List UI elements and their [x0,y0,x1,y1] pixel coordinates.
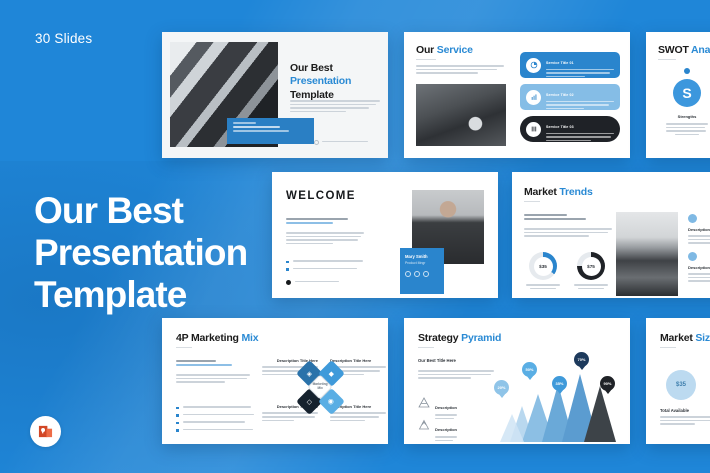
slide4-title: WELCOME [286,190,356,202]
mountain-icon [418,418,430,430]
person-name-card: Mary Smith Product Mngr [400,248,444,294]
slide4-body-text [286,232,364,246]
slide2-title-main: Our [416,44,434,56]
slide-thumbnail-4p-marketing[interactable]: 4P Marketing Mix Description Title Here … [162,318,388,444]
slide-thumbnail-swot[interactable]: SWOT Analysis S Strengths W Weaknesses [646,32,710,158]
slide2-title-accent: Service [437,44,473,56]
social-icons[interactable] [405,271,439,277]
pin-marker-2: 50% [522,362,537,381]
person-name: Mary Smith [405,254,439,259]
center-label: Marketing Mix [312,383,328,391]
donut-chart-2: $75 [574,252,608,289]
social-icon-1[interactable] [405,271,411,277]
slide2-title: Our Service [416,44,473,56]
slide7-title-main: Strategy [418,332,458,344]
market-size-caption: Total Available [660,408,710,427]
market-size-caption-title: Total Available [660,408,710,413]
service-card-3[interactable]: Service Title 03 [520,116,620,142]
strategy-description-2: Description [418,418,492,443]
swot-item-strengths[interactable]: S Strengths [660,68,710,135]
donut-2-caption [574,284,608,289]
list-item [176,406,254,410]
swot-dot-icon [684,68,690,74]
list-item [286,260,366,264]
swot-letter-s: S [673,79,701,107]
list-item [176,421,254,425]
donut-2-value: $75 [587,264,595,269]
slide1-title: Our Best Presentation Template [290,62,385,102]
slide6-subtitle [176,360,232,368]
trend-description-1: Description Here [688,214,710,246]
slide8-title-accent: Size [695,332,710,344]
slide8-title: Market Size [660,332,710,344]
strategy-2-title: Description [435,427,457,432]
list-item [176,414,254,418]
slide-thumbnail-market-size[interactable]: Market Size $35 Total Available Serviced… [646,318,710,444]
powerpoint-icon [30,416,61,447]
slide1-body-text [290,100,380,114]
slide-thumbnail-market-trends[interactable]: Market Trends $35 $75 Description Here D… [512,172,710,298]
social-icon-2[interactable] [414,271,420,277]
list-item [176,429,254,433]
laptop-photo [416,84,506,146]
service-card-2-label: Service Title 02 [546,93,574,97]
slide7-title: Strategy Pyramid [418,332,501,344]
slide3-title-main: SWOT [658,44,689,56]
slide3-title-rule [658,59,676,60]
slide1-footer [314,140,374,145]
slide5-title-accent: Trends [559,186,592,198]
slide6-body-text [176,374,250,385]
bullet-square-icon [176,407,179,410]
market-size-circle-small: $35 [666,370,696,400]
person-role: Product Mngr [405,261,439,265]
slide-thumbnail-strategy-pyramid[interactable]: Strategy Pyramid Our Best Title Here Des… [404,318,630,444]
slides-count-badge: 30 Slides [35,31,92,46]
service-card-2-text [546,101,614,112]
slide-thumbnail-welcome[interactable]: WELCOME Mary Smith Product Mngr [272,172,498,298]
bar-chart-icon [526,90,541,105]
slide1-author-block [227,118,314,144]
bullet-square-icon [176,422,179,425]
bullet-square-icon [286,261,289,264]
trend-icon-1 [688,214,697,223]
slide7-body-text [418,370,494,381]
slide3-title-accent: Analysis [691,44,710,56]
service-card-2[interactable]: Service Title 02 [520,84,620,110]
slide7-subtitle: Our Best Title Here [418,358,468,363]
slide6-title-main: 4P Marketing [176,332,239,344]
quadrant-2-title: Description Title Here [330,358,386,363]
trend-icon-2 [688,252,697,261]
office-photo [616,212,678,296]
list-item [286,268,366,272]
chart-icon [526,58,541,73]
slide5-title: Market Trends [524,186,593,198]
slide4-subtitle [286,218,348,226]
slide4-cta[interactable] [286,280,339,285]
slide1-title-line-1: Our Best [290,62,385,75]
pin-marker-1: 20% [494,380,509,399]
pin-marker-4: 70% [574,352,589,371]
service-card-3-text [546,133,614,144]
slide2-title-rule [416,59,436,60]
swot-text-strengths [660,123,710,135]
service-card-1-text [546,69,614,80]
slide4-bullet-list [286,260,366,275]
hero-title-line-3: Template [34,274,304,316]
slide8-title-main: Market [660,332,693,344]
slide2-body-text [416,65,504,76]
cta-dot-icon [286,280,291,285]
page-title: Our Best Presentation Template [34,190,304,317]
service-card-3-label: Service Title 03 [546,125,574,129]
slide6-title: 4P Marketing Mix [176,332,258,344]
trend-1-title: Description Here [688,227,710,232]
strategy-1-title: Description [435,405,457,410]
bullet-square-icon [286,268,289,271]
hero-title-line-2: Presentation [34,232,304,274]
bullet-square-icon [176,414,179,417]
service-card-1-label: Service Title 01 [546,61,574,65]
slide1-title-line-2: Presentation [290,75,385,88]
social-icon-3[interactable] [423,271,429,277]
pin-marker-3: 35% [552,376,567,395]
trend-description-2: Description Here [688,252,710,284]
slide5-title-rule [524,201,540,202]
mountain-chart: 20% 50% 35% 70% 90% [496,356,626,442]
slide5-body-text [524,228,612,239]
bullet-square-icon [176,429,179,432]
slide6-title-rule [176,347,192,348]
hero-title-line-1: Our Best [34,190,304,232]
donut-1-caption [526,284,560,289]
pyramid-icon [418,396,430,408]
slide3-title: SWOT Analysis [658,44,710,56]
slide7-title-accent: Pyramid [461,332,501,344]
swot-caption-strengths: Strengths [660,114,710,119]
donut-1-value: $35 [539,264,547,269]
slide7-title-rule [418,347,434,348]
slide-thumbnail-title[interactable]: Our Best Presentation Template [162,32,388,158]
slide6-bullet-list [176,406,254,436]
footer-dot-icon [314,140,319,145]
service-card-1[interactable]: Service Title 01 [520,52,620,78]
slide-thumbnail-our-service[interactable]: Our Service Service Title 01 Service Tit… [404,32,630,158]
pin-marker-5: 90% [600,376,615,395]
trend-2-title: Description Here [688,265,710,270]
donut-chart-1: $35 [526,252,560,289]
columns-icon [526,122,541,137]
slide5-title-main: Market [524,186,557,198]
slide6-title-accent: Mix [241,332,258,344]
slide8-title-rule [660,347,676,348]
slide5-subtitle [524,214,586,222]
